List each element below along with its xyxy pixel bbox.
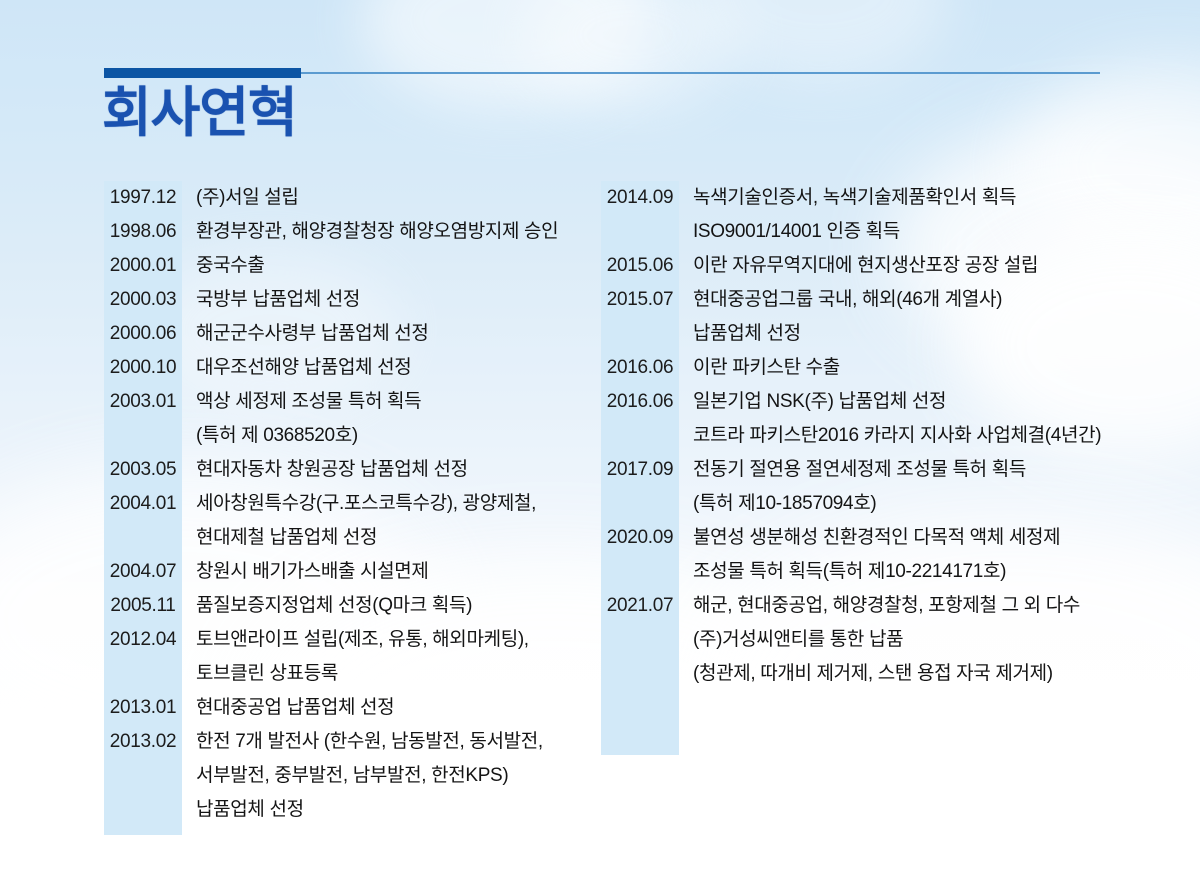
cloud-shape xyxy=(360,0,660,110)
timeline-rows-left: 1997.12(주)서일 설립1998.06환경부장관, 해양경찰청장 해양오염… xyxy=(104,181,558,827)
timeline-description: (주)서일 설립 xyxy=(182,181,558,215)
timeline-description-line: 국방부 납품업체 선정 xyxy=(196,283,558,317)
timeline-description-line: 창원시 배기가스배출 시설면제 xyxy=(196,555,558,589)
timeline-description: 창원시 배기가스배출 시설면제 xyxy=(182,555,558,589)
timeline-description: 국방부 납품업체 선정 xyxy=(182,283,558,317)
timeline-date: 2016.06 xyxy=(601,351,679,385)
timeline-description: 중국수출 xyxy=(182,249,558,283)
timeline-row: 1997.12(주)서일 설립 xyxy=(104,181,558,215)
timeline-row: 2016.06일본기업 NSK(주) 납품업체 선정코트라 파키스탄2016 카… xyxy=(601,385,1101,453)
timeline-description-line: (주)서일 설립 xyxy=(196,181,558,215)
timeline-description: 세아창원특수강(구.포스코특수강), 광양제철,현대제철 납품업체 선정 xyxy=(182,487,558,555)
timeline-description-line: (주)거성씨앤티를 통한 납품 xyxy=(693,623,1101,657)
timeline-date: 2000.01 xyxy=(104,249,182,283)
timeline-rows-right: 2014.09녹색기술인증서, 녹색기술제품확인서 획득ISO9001/1400… xyxy=(601,181,1101,691)
timeline-date: 2005.11 xyxy=(104,589,182,623)
company-history-page: 회사연혁 1997.12(주)서일 설립1998.06환경부장관, 해양경찰청장… xyxy=(0,0,1200,871)
timeline-date: 2000.10 xyxy=(104,351,182,385)
page-title: 회사연혁 xyxy=(102,84,297,143)
timeline-description: 현대자동차 창원공장 납품업체 선정 xyxy=(182,453,558,487)
timeline-column-left: 1997.12(주)서일 설립1998.06환경부장관, 해양경찰청장 해양오염… xyxy=(104,181,558,827)
timeline-row: 2003.05현대자동차 창원공장 납품업체 선정 xyxy=(104,453,558,487)
timeline-row: 2004.01세아창원특수강(구.포스코특수강), 광양제철,현대제철 납품업체… xyxy=(104,487,558,555)
timeline-row: 2015.06이란 자유무역지대에 현지생산포장 공장 설립 xyxy=(601,249,1101,283)
timeline-description-line: 토브클린 상표등록 xyxy=(196,657,558,691)
timeline-row: 2005.11품질보증지정업체 선정(Q마크 획득) xyxy=(104,589,558,623)
timeline-date: 2013.01 xyxy=(104,691,182,725)
header-rule-accent xyxy=(104,68,301,78)
timeline-date: 2015.06 xyxy=(601,249,679,283)
timeline-date: 2021.07 xyxy=(601,589,679,623)
timeline-description: 이란 파키스탄 수출 xyxy=(679,351,1101,385)
timeline-description: 현대중공업그룹 국내, 해외(46개 계열사)납품업체 선정 xyxy=(679,283,1101,351)
timeline-description: 녹색기술인증서, 녹색기술제품확인서 획득ISO9001/14001 인증 획득 xyxy=(679,181,1101,249)
timeline-description-line: 현대자동차 창원공장 납품업체 선정 xyxy=(196,453,558,487)
timeline-description-line: 불연성 생분해성 친환경적인 다목적 액체 세정제 xyxy=(693,521,1101,555)
timeline-description: 이란 자유무역지대에 현지생산포장 공장 설립 xyxy=(679,249,1101,283)
timeline-row: 2003.01액상 세정제 조성물 특허 획득(특허 제 0368520호) xyxy=(104,385,558,453)
timeline-row: 2012.04토브앤라이프 설립(제조, 유통, 해외마케팅),토브클린 상표등… xyxy=(104,623,558,691)
timeline-description-line: 이란 파키스탄 수출 xyxy=(693,351,1101,385)
timeline-description-line: 현대중공업 납품업체 선정 xyxy=(196,691,558,725)
timeline-row: 2020.09불연성 생분해성 친환경적인 다목적 액체 세정제조성물 특허 획… xyxy=(601,521,1101,589)
timeline-description-line: 조성물 특허 획득(특허 제10-2214171호) xyxy=(693,555,1101,589)
timeline-date: 2014.09 xyxy=(601,181,679,215)
timeline-row: 2017.09전동기 절연용 절연세정제 조성물 특허 획득(특허 제10-18… xyxy=(601,453,1101,521)
timeline-row: 2013.01현대중공업 납품업체 선정 xyxy=(104,691,558,725)
timeline-description-line: 납품업체 선정 xyxy=(196,793,558,827)
timeline-date: 2020.09 xyxy=(601,521,679,555)
timeline-description: 해군, 현대중공업, 해양경찰청, 포항제철 그 외 다수(주)거성씨앤티를 통… xyxy=(679,589,1101,691)
timeline-description-line: 품질보증지정업체 선정(Q마크 획득) xyxy=(196,589,558,623)
timeline-date: 1997.12 xyxy=(104,181,182,215)
timeline-date: 2003.05 xyxy=(104,453,182,487)
timeline-description-line: 이란 자유무역지대에 현지생산포장 공장 설립 xyxy=(693,249,1101,283)
timeline-row: 2016.06이란 파키스탄 수출 xyxy=(601,351,1101,385)
timeline-description-line: 해군군수사령부 납품업체 선정 xyxy=(196,317,558,351)
timeline-description: 액상 세정제 조성물 특허 획득(특허 제 0368520호) xyxy=(182,385,558,453)
timeline-date: 2000.06 xyxy=(104,317,182,351)
timeline-description-line: 서부발전, 중부발전, 남부발전, 한전KPS) xyxy=(196,759,558,793)
timeline-row: 2000.10대우조선해양 납품업체 선정 xyxy=(104,351,558,385)
timeline-description-line: 현대제철 납품업체 선정 xyxy=(196,521,558,555)
timeline-date: 2004.01 xyxy=(104,487,182,521)
timeline-description: 불연성 생분해성 친환경적인 다목적 액체 세정제조성물 특허 획득(특허 제1… xyxy=(679,521,1101,589)
timeline-row: 1998.06환경부장관, 해양경찰청장 해양오염방지제 승인 xyxy=(104,215,558,249)
timeline-date: 1998.06 xyxy=(104,215,182,249)
timeline-description: 해군군수사령부 납품업체 선정 xyxy=(182,317,558,351)
timeline-description-line: 환경부장관, 해양경찰청장 해양오염방지제 승인 xyxy=(196,215,558,249)
timeline-date: 2003.01 xyxy=(104,385,182,419)
timeline-description-line: 대우조선해양 납품업체 선정 xyxy=(196,351,558,385)
timeline-row: 2000.06해군군수사령부 납품업체 선정 xyxy=(104,317,558,351)
cloud-shape xyxy=(520,0,740,110)
timeline-description-line: 전동기 절연용 절연세정제 조성물 특허 획득 xyxy=(693,453,1101,487)
timeline-date: 2016.06 xyxy=(601,385,679,419)
timeline-description: 품질보증지정업체 선정(Q마크 획득) xyxy=(182,589,558,623)
timeline-description-line: ISO9001/14001 인증 획득 xyxy=(693,215,1101,249)
timeline-row: 2000.01중국수출 xyxy=(104,249,558,283)
timeline-description-line: 중국수출 xyxy=(196,249,558,283)
timeline-date: 2000.03 xyxy=(104,283,182,317)
timeline-description: 전동기 절연용 절연세정제 조성물 특허 획득(특허 제10-1857094호) xyxy=(679,453,1101,521)
timeline-description-line: 납품업체 선정 xyxy=(693,317,1101,351)
timeline-description-line: 액상 세정제 조성물 특허 획득 xyxy=(196,385,558,419)
timeline-description-line: (특허 제10-1857094호) xyxy=(693,487,1101,521)
timeline-description-line: 코트라 파키스탄2016 카라지 지사화 사업체결(4년간) xyxy=(693,419,1101,453)
timeline-description-line: 현대중공업그룹 국내, 해외(46개 계열사) xyxy=(693,283,1101,317)
timeline-description: 현대중공업 납품업체 선정 xyxy=(182,691,558,725)
timeline-date: 2012.04 xyxy=(104,623,182,657)
timeline-date: 2004.07 xyxy=(104,555,182,589)
timeline-description-line: (특허 제 0368520호) xyxy=(196,419,558,453)
timeline-row: 2014.09녹색기술인증서, 녹색기술제품확인서 획득ISO9001/1400… xyxy=(601,181,1101,249)
timeline-row: 2021.07해군, 현대중공업, 해양경찰청, 포항제철 그 외 다수(주)거… xyxy=(601,589,1101,691)
timeline-description: 토브앤라이프 설립(제조, 유통, 해외마케팅),토브클린 상표등록 xyxy=(182,623,558,691)
timeline-description-line: 녹색기술인증서, 녹색기술제품확인서 획득 xyxy=(693,181,1101,215)
timeline-description: 일본기업 NSK(주) 납품업체 선정코트라 파키스탄2016 카라지 지사화 … xyxy=(679,385,1101,453)
timeline-description-line: 해군, 현대중공업, 해양경찰청, 포항제철 그 외 다수 xyxy=(693,589,1101,623)
timeline-row: 2004.07창원시 배기가스배출 시설면제 xyxy=(104,555,558,589)
timeline-row: 2000.03국방부 납품업체 선정 xyxy=(104,283,558,317)
timeline-description-line: (청관제, 따개비 제거제, 스탠 용접 자국 제거제) xyxy=(693,657,1101,691)
timeline-description: 대우조선해양 납품업체 선정 xyxy=(182,351,558,385)
timeline-description-line: 한전 7개 발전사 (한수원, 남동발전, 동서발전, xyxy=(196,725,558,759)
timeline-date: 2017.09 xyxy=(601,453,679,487)
timeline-description: 환경부장관, 해양경찰청장 해양오염방지제 승인 xyxy=(182,215,558,249)
timeline-row: 2013.02한전 7개 발전사 (한수원, 남동발전, 동서발전,서부발전, … xyxy=(104,725,558,827)
timeline-description: 한전 7개 발전사 (한수원, 남동발전, 동서발전,서부발전, 중부발전, 남… xyxy=(182,725,558,827)
timeline-row: 2015.07현대중공업그룹 국내, 해외(46개 계열사)납품업체 선정 xyxy=(601,283,1101,351)
timeline-column-right: 2014.09녹색기술인증서, 녹색기술제품확인서 획득ISO9001/1400… xyxy=(601,181,1101,691)
timeline-date: 2013.02 xyxy=(104,725,182,759)
timeline-date: 2015.07 xyxy=(601,283,679,317)
timeline-description-line: 토브앤라이프 설립(제조, 유통, 해외마케팅), xyxy=(196,623,558,657)
timeline-description-line: 세아창원특수강(구.포스코특수강), 광양제철, xyxy=(196,487,558,521)
cloud-shape xyxy=(690,0,950,80)
timeline-description-line: 일본기업 NSK(주) 납품업체 선정 xyxy=(693,385,1101,419)
